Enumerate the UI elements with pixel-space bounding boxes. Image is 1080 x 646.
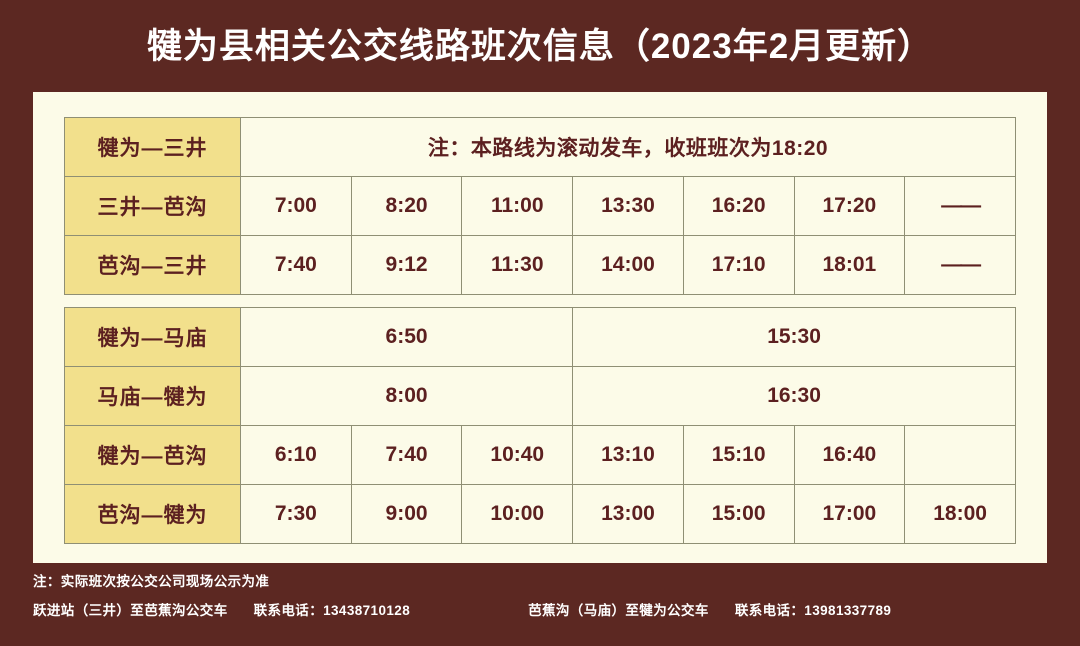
footer-note: 注：实际班次按公交公司现场公示为准 [33,570,1047,590]
time-cell: 14:00 [573,236,684,295]
time-cell-empty [905,426,1016,485]
time-cell: 17:10 [683,236,794,295]
time-cell: 7:00 [241,177,352,236]
time-cell: 18:00 [905,485,1016,544]
contact-route-label: 芭蕉沟（马庙）至犍为公交车 [528,599,709,619]
footer-contacts: 跃进站（三井）至芭蕉沟公交车 联系电话：13438710128 芭蕉沟（马庙）至… [33,599,1047,619]
route-label-cell: 犍为—马庙 [65,308,241,367]
time-cell-merged: 8:00 [241,367,573,426]
time-cell: 15:10 [683,426,794,485]
contact-group-bajiaogou: 芭蕉沟（马庙）至犍为公交车 联系电话：13981337789 [528,599,891,619]
route-label-cell: 犍为—芭沟 [65,426,241,485]
time-cell: 7:30 [241,485,352,544]
time-cell: 11:30 [462,236,573,295]
route-label-cell: 芭沟—犍为 [65,485,241,544]
contact-phone-label: 联系电话：13438710128 [254,599,411,619]
time-cell-merged: 15:30 [573,308,1016,367]
time-cell: 16:20 [683,177,794,236]
route-label-cell: 三井—芭沟 [65,177,241,236]
poster-root: 犍为县相关公交线路班次信息（2023年2月更新） 犍为—三井 注：本路线为滚动发… [0,0,1080,646]
table-row: 马庙—犍为 8:00 16:30 [65,367,1016,426]
time-cell-merged: 6:50 [241,308,573,367]
contact-group-sanjing: 跃进站（三井）至芭蕉沟公交车 联系电话：13438710128 [33,599,410,619]
time-cell-empty-dash: —— [905,236,1016,295]
time-cell: 13:10 [573,426,684,485]
table-row: 芭沟—犍为 7:30 9:00 10:00 13:00 15:00 17:00 … [65,485,1016,544]
table-row: 犍为—三井 注：本路线为滚动发车，收班班次为18:20 [65,118,1016,177]
time-cell: 7:40 [241,236,352,295]
time-cell: 10:00 [462,485,573,544]
table-row: 芭沟—三井 7:40 9:12 11:30 14:00 17:10 18:01 … [65,236,1016,295]
time-cell: 10:40 [462,426,573,485]
footer: 注：实际班次按公交公司现场公示为准 跃进站（三井）至芭蕉沟公交车 联系电话：13… [33,570,1047,619]
time-cell: 6:10 [241,426,352,485]
route-label-cell: 马庙—犍为 [65,367,241,426]
time-cell-empty-dash: —— [905,177,1016,236]
schedule-table-mamiao-bagou: 犍为—马庙 6:50 15:30 马庙—犍为 8:00 16:30 犍为—芭沟 … [64,307,1016,544]
contact-route-label: 跃进站（三井）至芭蕉沟公交车 [33,599,228,619]
time-cell: 17:00 [794,485,905,544]
title-bar: 犍为县相关公交线路班次信息（2023年2月更新） [0,0,1080,92]
time-cell: 11:00 [462,177,573,236]
route-label-cell: 芭沟—三井 [65,236,241,295]
page-title: 犍为县相关公交线路班次信息（2023年2月更新） [147,29,933,64]
time-cell: 13:00 [573,485,684,544]
table-row: 三井—芭沟 7:00 8:20 11:00 13:30 16:20 17:20 … [65,177,1016,236]
time-cell: 17:20 [794,177,905,236]
schedule-panel: 犍为—三井 注：本路线为滚动发车，收班班次为18:20 三井—芭沟 7:00 8… [33,92,1047,563]
time-cell: 7:40 [351,426,462,485]
time-cell: 8:20 [351,177,462,236]
table-row: 犍为—马庙 6:50 15:30 [65,308,1016,367]
time-cell: 9:00 [351,485,462,544]
schedule-table-sanjing: 犍为—三井 注：本路线为滚动发车，收班班次为18:20 三井—芭沟 7:00 8… [64,117,1016,295]
time-cell: 9:12 [351,236,462,295]
contact-phone-label: 联系电话：13981337789 [735,599,892,619]
time-cell: 15:00 [683,485,794,544]
table-row: 犍为—芭沟 6:10 7:40 10:40 13:10 15:10 16:40 [65,426,1016,485]
time-cell-merged: 16:30 [573,367,1016,426]
time-cell: 13:30 [573,177,684,236]
route-label-cell: 犍为—三井 [65,118,241,177]
route-note-cell: 注：本路线为滚动发车，收班班次为18:20 [241,118,1016,177]
time-cell: 16:40 [794,426,905,485]
time-cell: 18:01 [794,236,905,295]
